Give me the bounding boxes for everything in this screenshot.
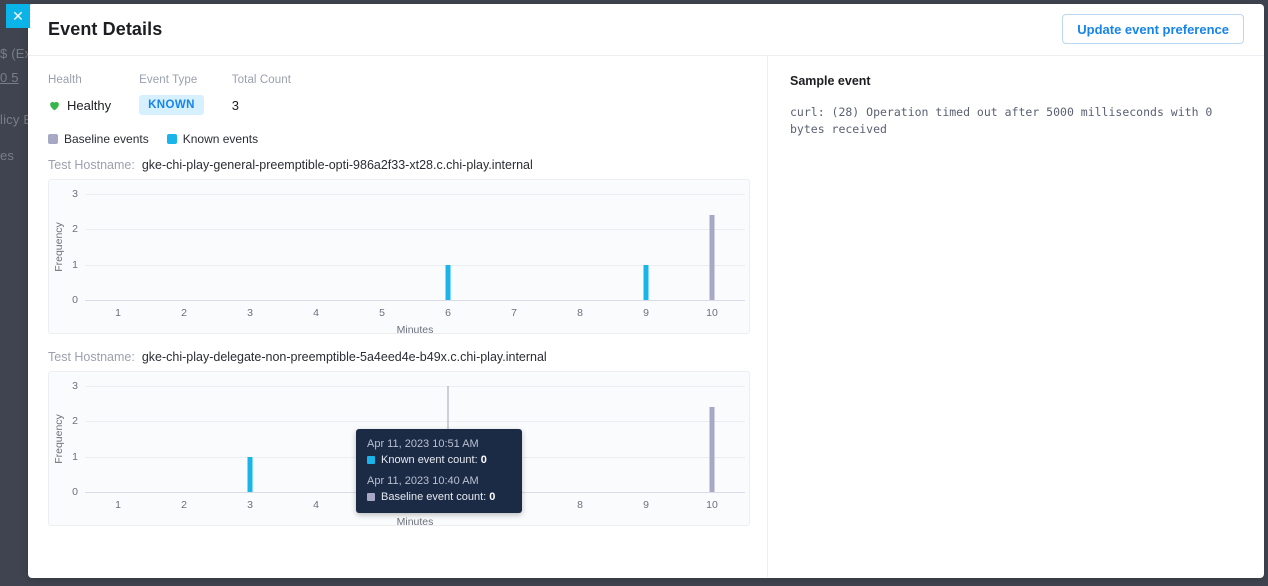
- x-axis-tick-label: 9: [643, 307, 649, 319]
- tooltip-timestamp: Apr 11, 2023 10:40 AM: [367, 475, 511, 487]
- y-axis-tick-label: 0: [72, 486, 78, 498]
- meta-health-text: Healthy: [67, 98, 111, 113]
- x-axis-tick-label: 3: [247, 307, 253, 319]
- update-event-preference-button[interactable]: Update event preference: [1062, 14, 1244, 44]
- x-axis-tick-label: 1: [115, 307, 121, 319]
- backdrop-text-fragment: es: [0, 148, 14, 163]
- meta-event-type-value: KNOWN: [139, 94, 204, 116]
- backdrop-text-fragment: $ (Ex: [0, 46, 31, 61]
- hostname-label: Test Hostname:: [48, 350, 135, 364]
- app-root: $ (Ex0 5licy Ees ✕ Event Details Update …: [0, 0, 1268, 586]
- tooltip-series-row: Known event count: 0: [367, 454, 511, 466]
- chart-gridline: [85, 300, 745, 301]
- y-axis-tick-label: 2: [72, 223, 78, 235]
- chart-card[interactable]: 012312345678910FrequencyMinutes: [48, 179, 750, 334]
- meta-event-type-label: Event Type: [139, 74, 204, 86]
- y-axis-tick-label: 0: [72, 294, 78, 306]
- sample-event-body: curl: (28) Operation timed out after 500…: [790, 104, 1240, 137]
- x-axis-tick-label: 2: [181, 499, 187, 511]
- meta-row: Health Healthy Event Type: [48, 74, 747, 116]
- x-axis-tick-label: 3: [247, 499, 253, 511]
- right-pane: Sample event curl: (28) Operation timed …: [768, 56, 1264, 577]
- backdrop-text-fragment: 0 5: [0, 70, 19, 85]
- x-axis-tick-label: 10: [706, 499, 718, 511]
- tooltip-series-text: Known event count: 0: [381, 454, 487, 466]
- chart-gridline: [85, 421, 745, 422]
- sample-event-title: Sample event: [790, 74, 1242, 88]
- chart-bar[interactable]: [248, 457, 253, 492]
- y-axis-title: Frequency: [53, 222, 65, 272]
- chart-bar[interactable]: [446, 265, 451, 300]
- chart-legend: Baseline eventsKnown events: [48, 132, 747, 146]
- close-icon[interactable]: ✕: [6, 4, 30, 28]
- x-axis-tick-label: 8: [577, 499, 583, 511]
- x-axis-tick-label: 7: [511, 307, 517, 319]
- page-title: Event Details: [48, 19, 162, 40]
- legend-item-label: Baseline events: [64, 132, 149, 146]
- x-axis-tick-label: 5: [379, 307, 385, 319]
- legend-item-label: Known events: [183, 132, 258, 146]
- y-axis-tick-label: 1: [72, 259, 78, 271]
- meta-total-count: Total Count 3: [232, 74, 291, 116]
- chart-gridline: [85, 386, 745, 387]
- tooltip-series-text: Baseline event count: 0: [381, 491, 495, 503]
- y-axis-title: Frequency: [53, 414, 65, 464]
- tooltip-series-row: Baseline event count: 0: [367, 491, 511, 503]
- meta-health-label: Health: [48, 74, 111, 86]
- chart-gridline: [85, 229, 745, 230]
- hostname-label: Test Hostname:: [48, 158, 135, 172]
- hostname-value: gke-chi-play-general-preemptible-opti-98…: [142, 158, 533, 172]
- modal-body: Health Healthy Event Type: [28, 56, 1264, 577]
- heart-icon: [48, 99, 61, 112]
- tooltip-swatch-icon: [367, 456, 375, 464]
- y-axis-tick-label: 3: [72, 188, 78, 200]
- meta-total-count-value: 3: [232, 94, 291, 116]
- meta-health: Health Healthy: [48, 74, 111, 116]
- chart-bar[interactable]: [710, 215, 715, 300]
- x-axis-tick-label: 10: [706, 307, 718, 319]
- legend-swatch-icon: [167, 134, 177, 144]
- hostname-row: Test Hostname:gke-chi-play-general-preem…: [48, 158, 747, 172]
- tooltip-swatch-icon: [367, 493, 375, 501]
- meta-event-type: Event Type KNOWN: [139, 74, 204, 116]
- tooltip-timestamp: Apr 11, 2023 10:51 AM: [367, 438, 511, 450]
- left-pane: Health Healthy Event Type: [28, 56, 768, 577]
- legend-swatch-icon: [48, 134, 58, 144]
- legend-item[interactable]: Known events: [167, 132, 258, 146]
- chart-bar[interactable]: [710, 407, 715, 492]
- y-axis-tick-label: 3: [72, 380, 78, 392]
- meta-total-count-label: Total Count: [232, 74, 291, 86]
- x-axis-tick-label: 8: [577, 307, 583, 319]
- x-axis-tick-label: 4: [313, 499, 319, 511]
- y-axis-tick-label: 1: [72, 451, 78, 463]
- chart-gridline: [85, 194, 745, 195]
- legend-item[interactable]: Baseline events: [48, 132, 149, 146]
- x-axis-title: Minutes: [397, 516, 434, 528]
- hostname-row: Test Hostname:gke-chi-play-delegate-non-…: [48, 350, 747, 364]
- x-axis-tick-label: 1: [115, 499, 121, 511]
- status-badge: KNOWN: [139, 95, 204, 115]
- x-axis-tick-label: 9: [643, 499, 649, 511]
- x-axis-tick-label: 2: [181, 307, 187, 319]
- chart-bar[interactable]: [644, 265, 649, 300]
- modal-header: Event Details Update event preference: [28, 4, 1264, 56]
- chart-tooltip: Apr 11, 2023 10:51 AMKnown event count: …: [356, 429, 522, 513]
- x-axis-tick-label: 4: [313, 307, 319, 319]
- x-axis-tick-label: 6: [445, 307, 451, 319]
- y-axis-tick-label: 2: [72, 415, 78, 427]
- tooltip-group: Apr 11, 2023 10:40 AMBaseline event coun…: [367, 475, 511, 503]
- event-details-modal: Event Details Update event preference He…: [28, 4, 1264, 578]
- tooltip-group: Apr 11, 2023 10:51 AMKnown event count: …: [367, 438, 511, 466]
- x-axis-title: Minutes: [397, 324, 434, 336]
- hostname-value: gke-chi-play-delegate-non-preemptible-5a…: [142, 350, 547, 364]
- chart-plot-area[interactable]: 012312345678910FrequencyMinutes: [85, 194, 745, 300]
- meta-health-value: Healthy: [48, 94, 111, 116]
